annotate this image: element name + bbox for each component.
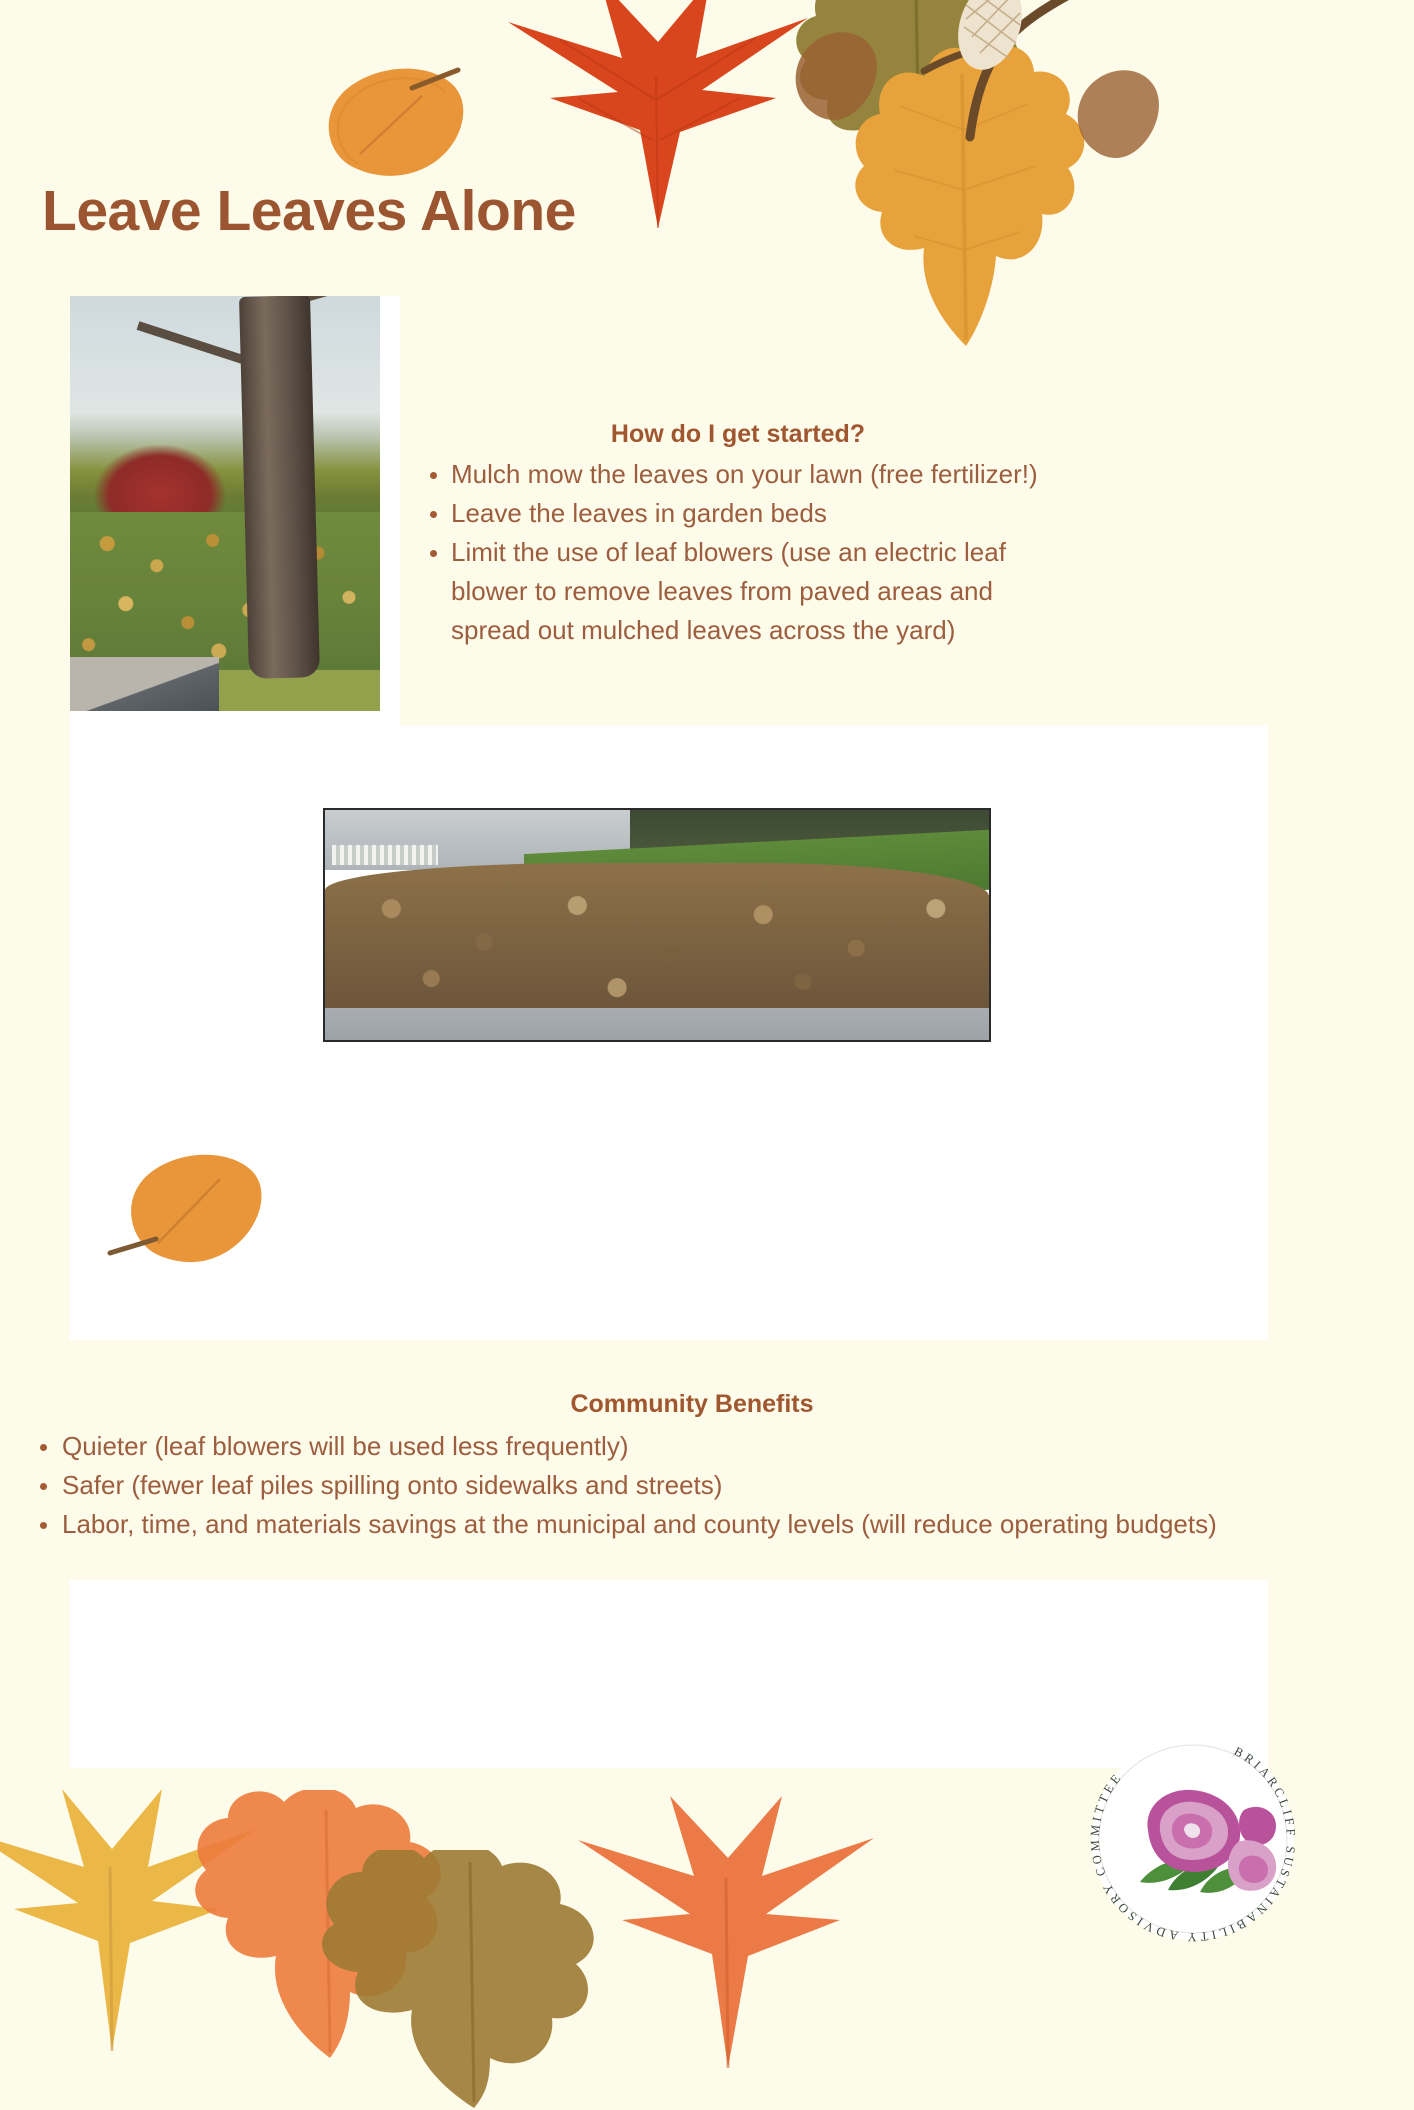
branch-with-pinecone-top-icon: [870, 0, 1090, 145]
get-started-bullet-list: Mulch mow the leaves on your lawn (free …: [418, 455, 1058, 650]
get-started-section: How do I get started? Mulch mow the leav…: [418, 420, 1058, 650]
orange-heart-leaf-top-icon: [300, 50, 480, 180]
tree-with-fallen-leaves-photo: [70, 296, 380, 711]
community-benefits-section: Community Benefits Quieter (leaf blowers…: [22, 1390, 1362, 1544]
briarcliff-sustainability-advisory-committee-logo: BRIARCLIFF SUSTAINABILITY ADVISORY COMMI…: [1082, 1728, 1304, 1950]
small-brown-leaf-topright-icon: [1060, 60, 1170, 170]
list-item: Safer (fewer leaf piles spilling onto si…: [22, 1466, 1362, 1505]
leaf-pile-at-curb-photo: [323, 808, 991, 1042]
list-item: Leave the leaves in garden beds: [418, 494, 1058, 533]
community-benefits-heading: Community Benefits: [22, 1390, 1362, 1419]
yellow-maple-leaf-bottom-icon: [0, 1775, 260, 2055]
list-item: Labor, time, and materials savings at th…: [22, 1505, 1362, 1544]
olive-oak-leaf-top-icon: [770, 0, 1060, 210]
get-started-heading: How do I get started?: [418, 420, 1058, 449]
orange-oak-leaf-bottom-icon: [170, 1790, 500, 2060]
page-title: Leave Leaves Alone: [42, 178, 576, 244]
list-item: Limit the use of leaf blowers (use an el…: [418, 533, 1058, 650]
list-item: Quieter (leaf blowers will be used less …: [22, 1427, 1362, 1466]
list-item: Mulch mow the leaves on your lawn (free …: [418, 455, 1058, 494]
orange-maple-leaf-bottom-icon: [560, 1790, 890, 2070]
community-benefits-bullet-list: Quieter (leaf blowers will be used less …: [22, 1427, 1362, 1544]
small-brown-leaf-top-icon: [776, 20, 886, 130]
brown-oak-leaf-bottom-icon: [290, 1850, 660, 2110]
